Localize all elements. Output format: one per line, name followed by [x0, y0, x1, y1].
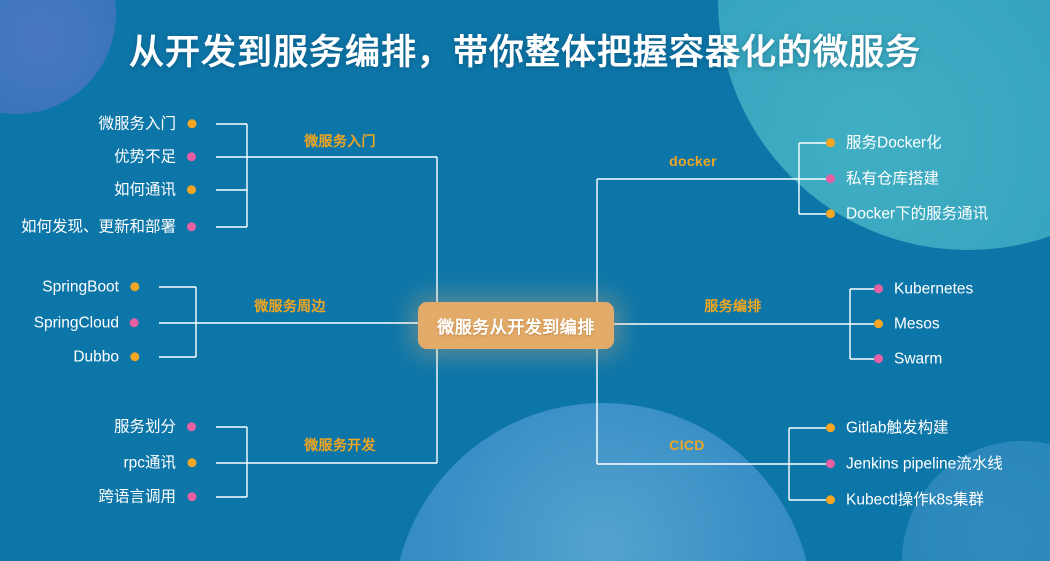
leaf-item[interactable]: Kubernetes: [874, 281, 973, 297]
bullet-dot-pink-icon: [130, 319, 139, 328]
bullet-dot-pink-icon: [187, 223, 196, 232]
bullet-dot-pink-icon: [874, 355, 883, 364]
leaf-item[interactable]: Swarm: [874, 351, 942, 367]
leaf-label: Kubernetes: [894, 281, 973, 297]
branch-title-cicd[interactable]: CICD: [669, 437, 704, 453]
leaf-item[interactable]: SpringBoot: [42, 279, 139, 295]
leaf-item[interactable]: Dubbo: [73, 349, 139, 365]
leaf-item[interactable]: 如何通讯: [114, 182, 196, 198]
leaf-label: Mesos: [894, 316, 940, 332]
mindmap-canvas: 从开发到服务编排，带你整体把握容器化的微服务 微服务从开发到编排 微服务入门优势…: [0, 0, 1050, 561]
bullet-dot-pink-icon: [187, 423, 196, 432]
bullet-dot-orange-icon: [130, 353, 139, 362]
branch-title-service-orchestration[interactable]: 服务编排: [704, 296, 761, 316]
leaf-label: Jenkins pipeline流水线: [846, 456, 1003, 472]
leaf-item[interactable]: 微服务入门: [98, 116, 196, 132]
leaf-item[interactable]: Gitlab触发构建: [826, 420, 949, 436]
leaf-item[interactable]: 私有仓库搭建: [826, 171, 939, 187]
leaf-label: Gitlab触发构建: [846, 420, 949, 436]
branch-title-microservice-dev[interactable]: 微服务开发: [304, 435, 376, 455]
leaf-item[interactable]: Mesos: [874, 316, 940, 332]
leaf-item[interactable]: 服务Docker化: [826, 135, 942, 151]
bullet-dot-orange-icon: [187, 459, 196, 468]
center-node-label: 微服务从开发到编排: [437, 313, 595, 338]
leaf-label: 如何发现、更新和部署: [21, 219, 176, 235]
leaf-label: SpringBoot: [42, 279, 119, 295]
bullet-dot-pink-icon: [187, 493, 196, 502]
leaf-label: 如何通讯: [114, 182, 176, 198]
page-title: 从开发到服务编排，带你整体把握容器化的微服务: [0, 24, 1050, 75]
bullet-dot-pink-icon: [826, 460, 835, 469]
bullet-dot-orange-icon: [187, 186, 196, 195]
bullet-dot-pink-icon: [874, 285, 883, 294]
leaf-item[interactable]: Jenkins pipeline流水线: [826, 456, 1003, 472]
leaf-label: SpringCloud: [34, 315, 119, 331]
leaf-item[interactable]: 服务划分: [114, 419, 196, 435]
bullet-dot-orange-icon: [826, 496, 835, 505]
bullet-dot-orange-icon: [130, 283, 139, 292]
branch-title-microservice-ecosystem[interactable]: 微服务周边: [254, 296, 326, 316]
leaf-label: Swarm: [894, 351, 942, 367]
bullet-dot-orange-icon: [187, 120, 196, 129]
leaf-label: Dubbo: [73, 349, 119, 365]
leaf-label: Docker下的服务通讯: [846, 206, 988, 222]
leaf-label: 微服务入门: [98, 116, 176, 132]
bullet-dot-orange-icon: [826, 139, 835, 148]
leaf-label: 服务划分: [114, 419, 176, 435]
leaf-item[interactable]: 如何发现、更新和部署: [21, 219, 196, 235]
bullet-dot-orange-icon: [874, 320, 883, 329]
decorative-circle-bottom-center: [393, 403, 813, 561]
branch-title-docker[interactable]: docker: [669, 153, 717, 169]
leaf-item[interactable]: Kubectl操作k8s集群: [826, 492, 984, 508]
bullet-dot-pink-icon: [187, 153, 196, 162]
leaf-item[interactable]: 优势不足: [114, 149, 196, 165]
bullet-dot-pink-icon: [826, 175, 835, 184]
leaf-item[interactable]: SpringCloud: [34, 315, 139, 331]
bullet-dot-orange-icon: [826, 424, 835, 433]
center-node[interactable]: 微服务从开发到编排: [418, 302, 614, 349]
leaf-item[interactable]: Docker下的服务通讯: [826, 206, 988, 222]
leaf-label: 优势不足: [114, 149, 176, 165]
leaf-item[interactable]: 跨语言调用: [98, 489, 196, 505]
leaf-label: 私有仓库搭建: [846, 171, 939, 187]
branch-title-microservice-intro[interactable]: 微服务入门: [304, 131, 376, 151]
bullet-dot-orange-icon: [826, 210, 835, 219]
leaf-label: rpc通讯: [123, 455, 176, 471]
leaf-label: Kubectl操作k8s集群: [846, 492, 984, 508]
leaf-item[interactable]: rpc通讯: [123, 455, 196, 471]
leaf-label: 服务Docker化: [846, 135, 942, 151]
leaf-label: 跨语言调用: [98, 489, 176, 505]
